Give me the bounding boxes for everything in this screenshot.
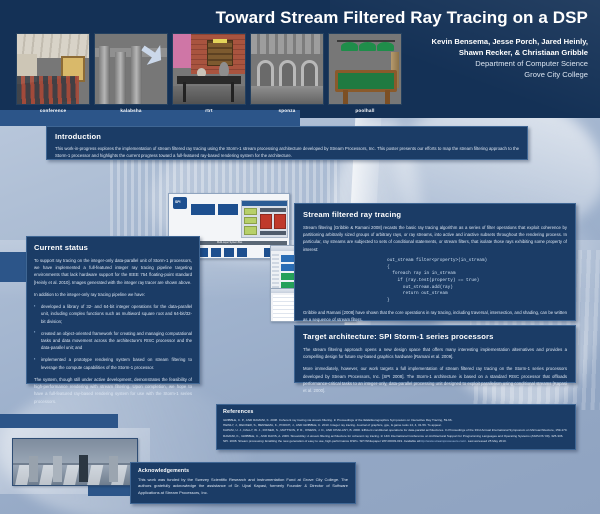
stream-filtered-paragraph-1: Stream filtering [Gribble & Ramani 2008]… <box>303 224 567 253</box>
poster-canvas: Toward Stream Filtered Ray Tracing on a … <box>0 0 600 514</box>
list-item: implemented a prototype rendering system… <box>34 356 192 370</box>
pedestrian-crosswalk-photo <box>12 438 138 486</box>
acknowledgements-body: This work was funded by the Swezey Scien… <box>138 477 348 496</box>
author-block: Kevin Bensema, Jesse Porch, Jared Heinly… <box>432 36 588 80</box>
scene-sponza-thumbnail-icon <box>250 33 324 105</box>
introduction-panel: Introduction This work-in-progress explo… <box>46 126 528 160</box>
current-status-paragraph-3: The system, though still under active de… <box>34 376 192 405</box>
target-architecture-panel: Target architecture: SPI Storm-1 series … <box>294 325 576 383</box>
reference-entry: KAPASI, U. J., DALLY, W. J., RIXNER, S.,… <box>223 428 569 433</box>
department-name: Department of Computer Science <box>432 58 588 69</box>
scene-thumbnail-rtrt[interactable]: rtrt <box>172 33 246 113</box>
stream-filtered-paragraph-2: Gribble and Ramani [2008] have shown tha… <box>303 309 567 323</box>
target-architecture-heading: Target architecture: SPI Storm-1 series … <box>303 332 567 341</box>
introduction-body: This work-in-progress explores the imple… <box>55 145 519 159</box>
thumbnail-caption: sponza <box>250 108 324 113</box>
scene-thumbnail-poolhall[interactable]: poolhall <box>328 33 402 113</box>
current-status-paragraph-1: To support ray tracing on the integer-on… <box>34 257 192 286</box>
stream-filtered-ray-tracing-panel: Stream filtered ray tracing Stream filte… <box>294 203 576 321</box>
introduction-heading: Introduction <box>55 132 519 141</box>
scene-poolhall-thumbnail-icon <box>328 33 402 105</box>
author-names-line-1: Kevin Bensema, Jesse Porch, Jared Heinly… <box>432 36 588 47</box>
thumbnail-caption: conference <box>16 108 90 113</box>
current-status-paragraph-2: In addition to the integer-only ray trac… <box>34 291 192 298</box>
target-architecture-paragraph-2: More immediately, however, our work targ… <box>303 365 567 394</box>
acknowledgements-heading: Acknowledgements <box>138 468 348 474</box>
list-item: developed a library of 32- and 64-bit in… <box>34 303 192 325</box>
references-panel: References GRIBBLE, C. P., AND RAMANI, K… <box>216 404 576 450</box>
current-status-bullet-list: developed a library of 32- and 64-bit in… <box>34 303 192 371</box>
reference-access-date: . Last accessed 25 May 2010. <box>466 439 506 443</box>
thumbnail-caption: poolhall <box>328 108 402 113</box>
stream-filtered-heading: Stream filtered ray tracing <box>303 210 567 219</box>
references-heading: References <box>223 409 569 415</box>
institution-name: Grove City College <box>432 69 588 80</box>
reference-url[interactable]: http://www.streamprocessors.com/ <box>419 439 466 443</box>
current-status-panel: Current status To support ray tracing on… <box>26 236 200 384</box>
scene-thumbnail-kalabsha[interactable]: kalabsha <box>94 33 168 113</box>
page-title: Toward Stream Filtered Ray Tracing on a … <box>216 8 588 28</box>
reference-text: SPI. 2008. Stream processing: Enabling t… <box>223 439 419 443</box>
accent-bar <box>0 414 118 428</box>
author-names-line-2: Shawn Recker, & Christiaan Gribble <box>432 47 588 58</box>
thumbnail-caption: rtrt <box>172 108 246 113</box>
scene-rtrt-thumbnail-icon <box>172 33 246 105</box>
reference-entry: SPI. 2008. Stream processing: Enabling t… <box>223 439 569 444</box>
scene-thumbnail-sponza[interactable]: sponza <box>250 33 324 113</box>
thumbnail-caption: kalabsha <box>94 108 168 113</box>
scene-conference-thumbnail-icon <box>16 33 90 105</box>
scene-thumbnail-conference[interactable]: conference <box>16 33 90 113</box>
list-item: created an object-oriented framework for… <box>34 330 192 352</box>
accent-bar <box>0 252 26 282</box>
scene-thumbnail-strip: conference kalabsha rtrt s <box>16 33 402 113</box>
acknowledgements-panel: Acknowledgements This work was funded by… <box>130 462 356 504</box>
spi-logo-icon <box>173 197 187 209</box>
current-status-heading: Current status <box>34 243 192 252</box>
scene-kalabsha-thumbnail-icon <box>94 33 168 105</box>
target-architecture-paragraph-1: The stream filtering approach opens a ne… <box>303 346 567 360</box>
stream-filter-pseudocode: out_stream filter<property>(in_stream) {… <box>303 258 567 305</box>
